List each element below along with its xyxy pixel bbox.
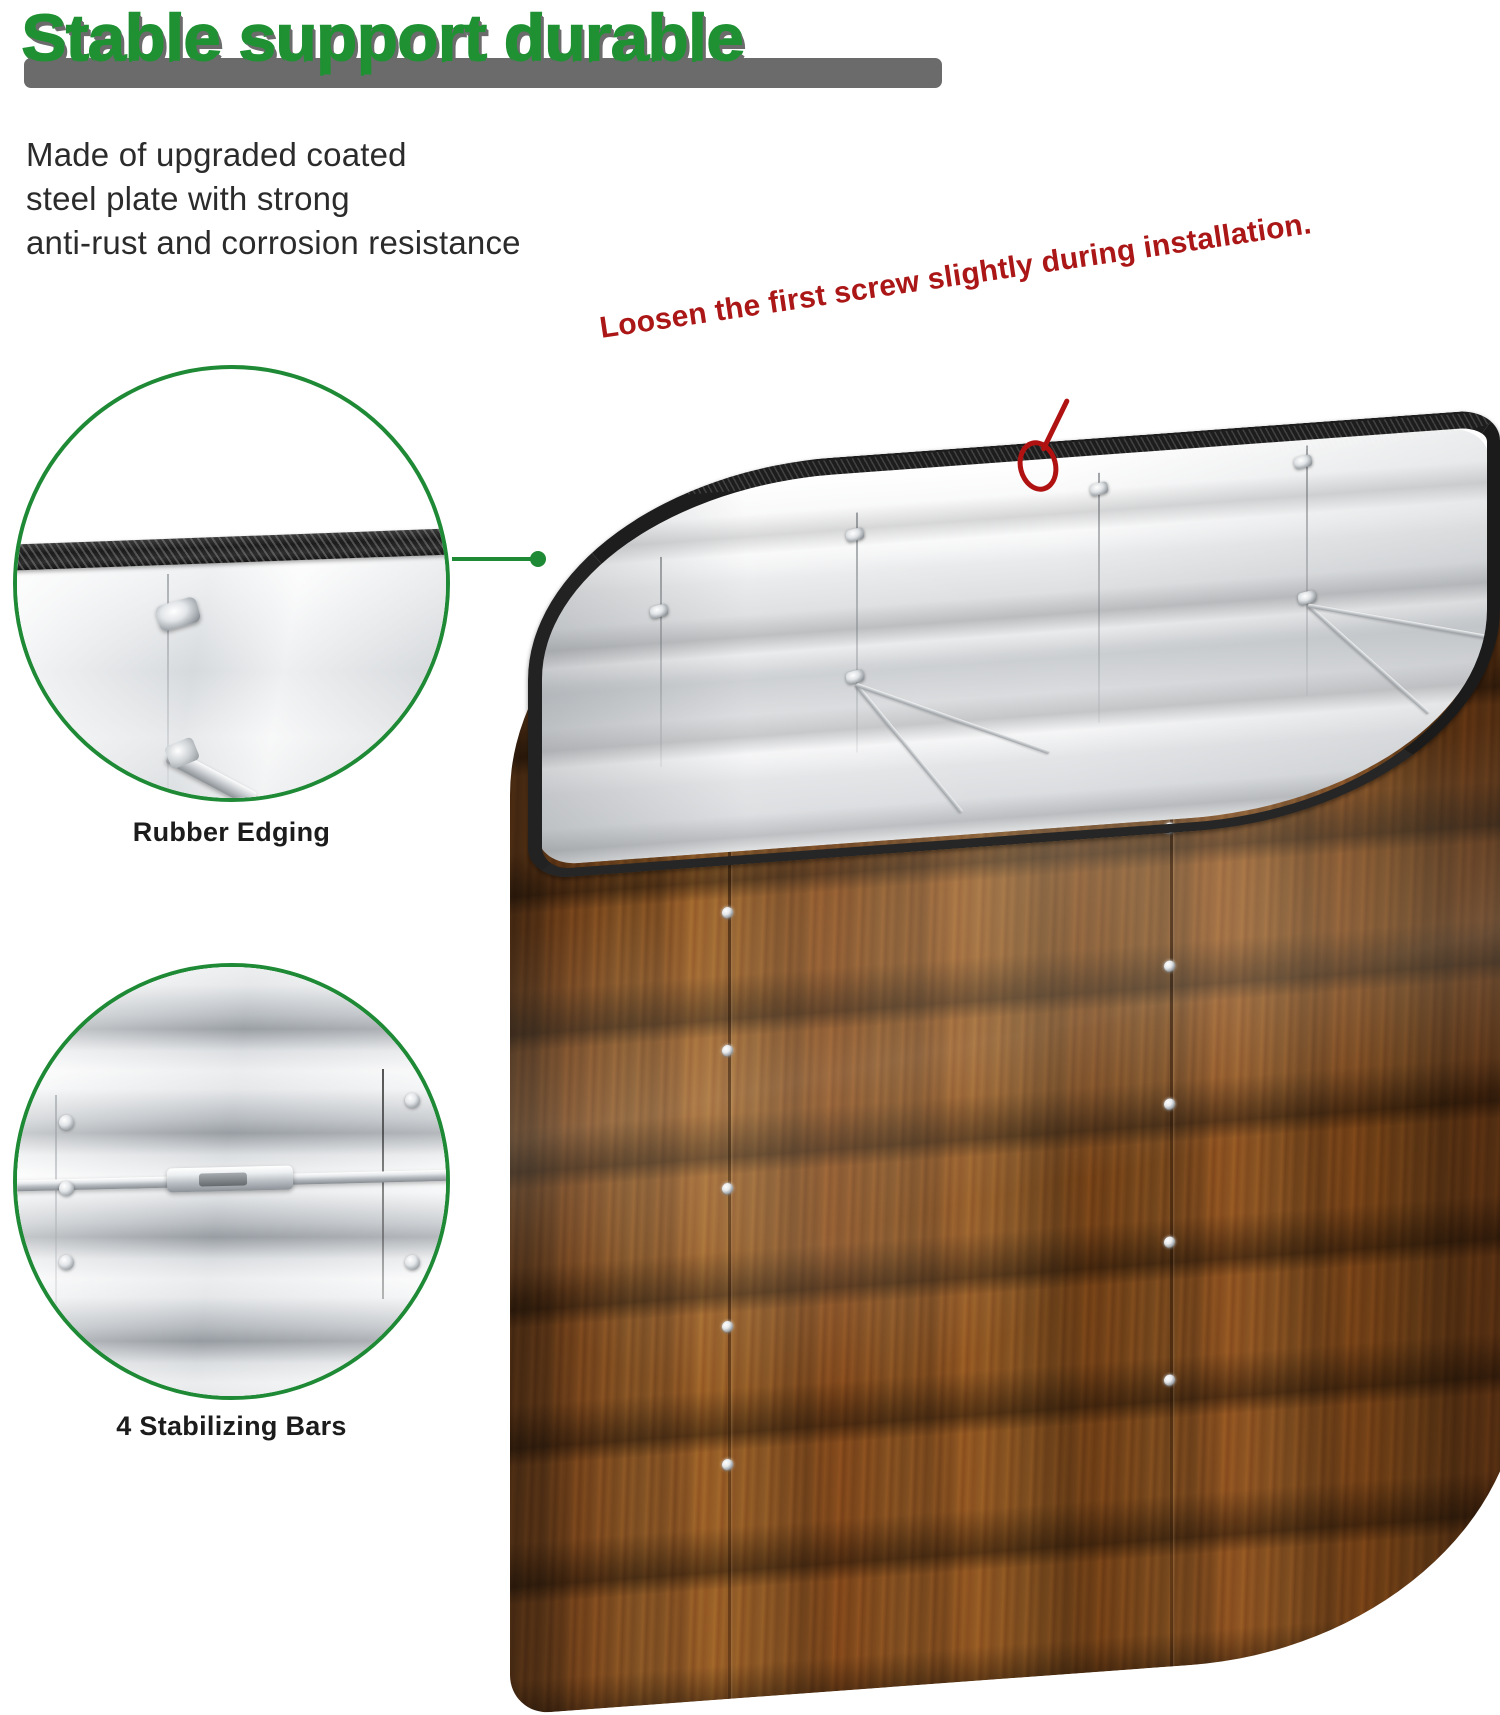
screw — [405, 1093, 420, 1108]
subtitle-block: Made of upgraded coated steel plate with… — [26, 133, 786, 265]
panel-seam — [55, 1095, 57, 1345]
subtitle-line-3: anti-rust and corrosion resistance — [26, 221, 786, 265]
product-image — [470, 300, 1500, 1460]
plate-shading — [13, 555, 450, 802]
callout-label-stabilizing-bars: 4 Stabilizing Bars — [13, 1411, 450, 1442]
callout-circle-ring — [13, 963, 450, 1400]
edge-wire — [382, 1069, 384, 1299]
subtitle-line-2: steel plate with strong — [26, 177, 786, 221]
screw — [59, 1255, 74, 1270]
screw — [59, 1181, 74, 1196]
callout-label-rubber-edging: Rubber Edging — [13, 817, 450, 848]
headline-block: Stable support durable — [22, 4, 962, 96]
leader-endpoint-dot — [530, 551, 546, 567]
page-title: Stable support durable — [22, 4, 744, 73]
leader-line-segment — [452, 557, 540, 561]
steel-plate-surface — [13, 555, 450, 802]
screw — [405, 1255, 420, 1270]
callout-leader-line — [452, 556, 540, 562]
callout-circle-ring — [13, 365, 450, 802]
subtitle-line-1: Made of upgraded coated — [26, 133, 786, 177]
coupler-slot — [199, 1172, 247, 1186]
screw — [59, 1115, 74, 1130]
